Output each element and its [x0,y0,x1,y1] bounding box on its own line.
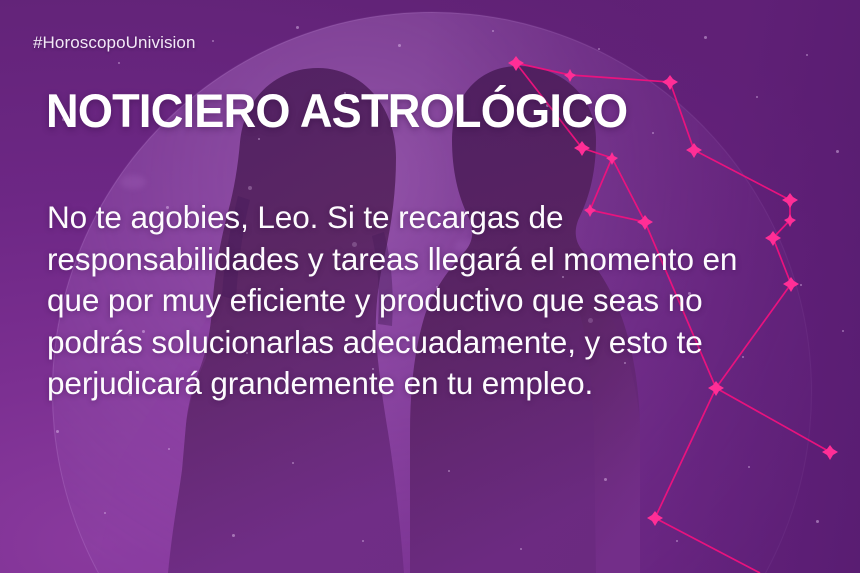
star-node [508,56,524,71]
star-node [783,277,799,292]
hashtag-label: #HoroscopoUnivision [33,33,196,53]
horoscope-poster: #HoroscopoUnivision NOTICIERO ASTROLÓGIC… [0,0,860,573]
horoscope-body-text: No te agobies, Leo. Si te recargas de re… [47,197,757,405]
star-node [574,141,590,156]
star-node [662,75,678,90]
star-node [647,511,663,526]
star-node [564,69,576,82]
star-node [822,445,838,460]
star-node [606,152,618,165]
page-title: NOTICIERO ASTROLÓGICO [46,87,627,134]
star-node [686,143,702,158]
star-node [782,193,798,208]
